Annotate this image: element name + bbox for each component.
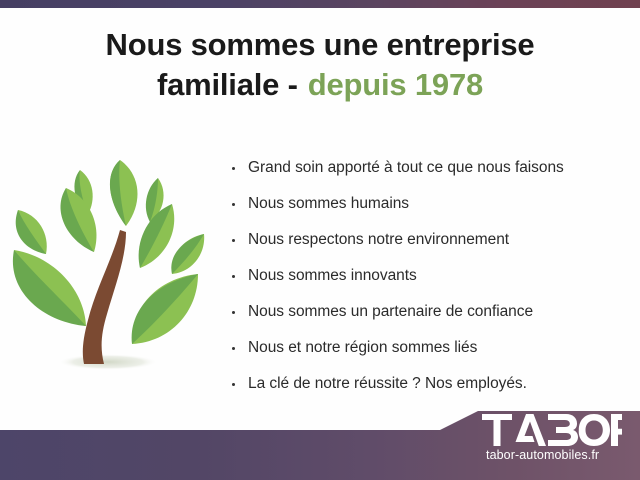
list-item: Nous sommes innovants <box>230 258 630 294</box>
list-item-label: Nous et notre région sommes liés <box>248 339 477 357</box>
list-item-label: Nous sommes innovants <box>248 267 417 285</box>
bullet-icon <box>232 347 235 350</box>
bullet-icon <box>232 275 235 278</box>
value-list: Grand soin apporté à tout ce que nous fa… <box>230 150 630 402</box>
list-item-label: La clé de notre réussite ? Nos employés. <box>248 375 527 393</box>
headline-line-2: familiale -depuis 1978 <box>30 66 610 104</box>
leaf-top-center <box>110 160 138 226</box>
bullet-icon <box>232 311 235 314</box>
bullet-icon <box>232 383 235 386</box>
tree-trunk <box>83 230 126 364</box>
list-item: Nous et notre région sommes liés <box>230 330 630 366</box>
page-title: Nous sommes une entreprise familiale -de… <box>30 26 610 104</box>
list-item-label: Nous sommes humains <box>248 195 409 213</box>
list-item-label: Grand soin apporté à tout ce que nous fa… <box>248 159 564 177</box>
headline-line-1: Nous sommes une entreprise <box>30 26 610 64</box>
leaf-lower-right-large <box>132 274 198 344</box>
list-item: Nous respectons notre environnement <box>230 222 630 258</box>
brand-tagline: tabor-automobiles.fr <box>486 448 599 462</box>
list-item: La clé de notre réussite ? Nos employés. <box>230 366 630 402</box>
leaf-lower-left-large <box>13 250 86 326</box>
bullet-icon <box>232 167 235 170</box>
tree-shadow <box>58 354 158 370</box>
bullet-icon <box>232 203 235 206</box>
tree-illustration <box>8 148 214 388</box>
list-item: Nous sommes humains <box>230 186 630 222</box>
leaf-far-left-small <box>16 210 47 254</box>
brand-logo[interactable]: tabor-automobiles.fr <box>482 412 632 474</box>
top-accent-bar <box>0 0 640 8</box>
headline-line-2-dark: familiale - <box>157 67 298 102</box>
leaf-far-right-small <box>171 234 204 274</box>
list-item-label: Nous respectons notre environnement <box>248 231 509 249</box>
bullet-icon <box>232 239 235 242</box>
headline-line-2-accent: depuis 1978 <box>308 67 483 102</box>
list-item: Grand soin apporté à tout ce que nous fa… <box>230 150 630 186</box>
list-item: Nous sommes un partenaire de confiance <box>230 294 630 330</box>
list-item-label: Nous sommes un partenaire de confiance <box>248 303 533 321</box>
tabor-wordmark-icon <box>482 414 622 446</box>
slide-canvas: Nous sommes une entreprise familiale -de… <box>0 0 640 480</box>
